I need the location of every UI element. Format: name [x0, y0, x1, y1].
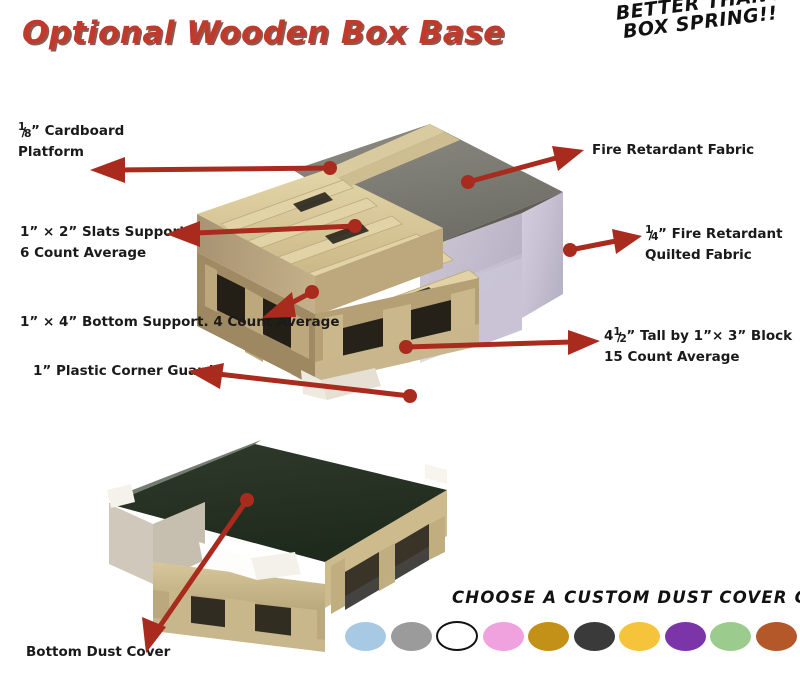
- page-title: Optional Wooden Box Base: [22, 15, 505, 51]
- block-line-2: 15 Count Average: [604, 349, 740, 365]
- diagram-canvas: Optional Wooden Box Base BETTER THAN A B…: [0, 0, 800, 686]
- box-base-cutaway-photo: [175, 118, 605, 408]
- corner-guard-line-1: 1” Plastic Corner Guard: [33, 363, 214, 379]
- dust-cover-swatch-pink[interactable]: [483, 622, 524, 651]
- dust-cover-swatch-charcoal[interactable]: [574, 622, 615, 651]
- fraction-one-quarter: 1/4: [645, 227, 657, 241]
- callout-label-slats-support: 1” × 2” Slats Support. 6 Count Average: [20, 222, 191, 264]
- cardboard-platform-line-1: 1/8” Cardboard: [18, 123, 124, 139]
- cardboard-platform-line-2: Platform: [18, 144, 84, 160]
- quilted-fabric-line-2: Quilted Fabric: [645, 247, 752, 263]
- dust-cover-swatch-purple[interactable]: [665, 622, 706, 651]
- quilted-fabric-line-1: 1/4” Fire Retardant: [645, 226, 783, 242]
- callout-label-corner-guard: 1” Plastic Corner Guard: [33, 361, 214, 382]
- fire-retardant-fabric-line-1: Fire Retardant Fabric: [592, 142, 754, 158]
- dust-cover-swatch-brown[interactable]: [756, 622, 797, 651]
- slats-support-line-2: 6 Count Average: [20, 245, 146, 261]
- dust-cover-swatch-light-blue[interactable]: [345, 622, 386, 651]
- dust-cover-swatch-amber[interactable]: [619, 622, 660, 651]
- callout-label-block: 41/2” Tall by 1”× 3” Block 15 Count Aver…: [604, 326, 792, 368]
- better-than-box-spring-badge: BETTER THAN A BOX SPRING!!: [605, 0, 800, 44]
- callout-label-bottom-support: 1” × 4” Bottom Support. 4 Count Average: [20, 312, 340, 333]
- bottom-support-line-1: 1” × 4” Bottom Support. 4 Count Average: [20, 314, 340, 330]
- slats-support-line-1: 1” × 2” Slats Support.: [20, 224, 191, 240]
- block-line-1: 41/2” Tall by 1”× 3” Block: [604, 328, 792, 344]
- dust-cover-swatch-dark-gold[interactable]: [528, 622, 569, 651]
- dust-cover-swatch-white[interactable]: [436, 621, 478, 651]
- bottom-dust-cover-line-1: Bottom Dust Cover: [26, 644, 170, 660]
- fraction-one-eighth: 1/8: [18, 124, 30, 138]
- dust-cover-swatch-row[interactable]: [345, 616, 797, 656]
- dust-cover-color-title: CHOOSE A CUSTOM DUST COVER COLOR: [452, 588, 800, 607]
- callout-label-bottom-dust-cover: Bottom Dust Cover: [26, 642, 170, 663]
- callout-label-quilted-fabric: 1/4” Fire Retardant Quilted Fabric: [645, 224, 783, 266]
- callout-label-fire-retardant-fabric: Fire Retardant Fabric: [592, 140, 754, 161]
- dust-cover-swatch-gray[interactable]: [391, 622, 432, 651]
- dust-cover-swatch-light-green[interactable]: [710, 622, 751, 651]
- fraction-one-half: 1/2: [613, 329, 625, 343]
- callout-label-cardboard-platform: 1/8” Cardboard Platform: [18, 121, 124, 163]
